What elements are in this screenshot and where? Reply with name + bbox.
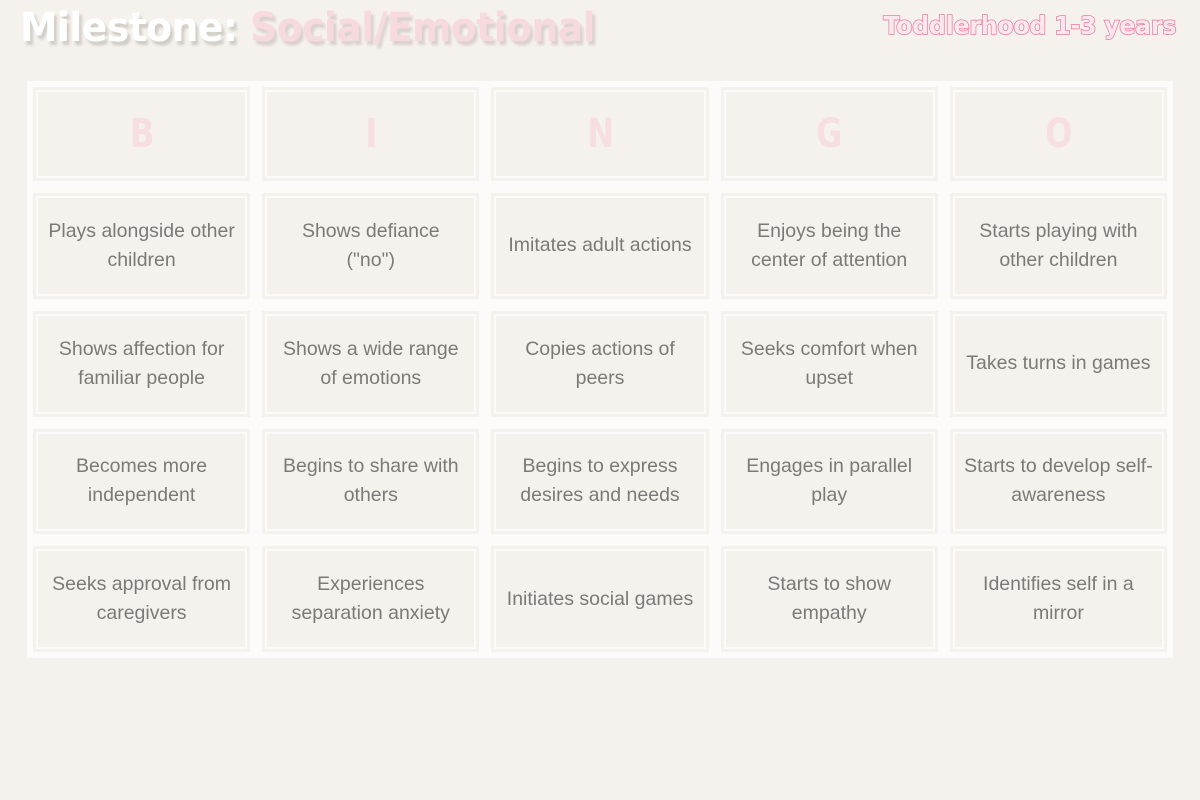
bingo-cell[interactable]: Experiences separation anxiety [256,540,485,658]
bingo-cell[interactable]: Seeks comfort when upset [715,305,944,423]
bingo-letter-o: O [1045,114,1071,154]
bingo-board: B I N G O Plays alongside other children… [27,81,1173,776]
bingo-cell-label: Imitates adult actions [508,231,691,260]
bingo-cell-label: Shows defiance ("no") [276,217,465,275]
bingo-cell[interactable]: Identifies self in a mirror [944,540,1173,658]
bingo-header-cell-n: N [485,81,714,187]
bingo-cell[interactable]: Seeks approval from caregivers [27,540,256,658]
bingo-cell-label: Starts playing with other children [964,217,1153,275]
bingo-cell[interactable]: Shows defiance ("no") [256,187,485,305]
bingo-letter-n: N [587,114,613,154]
bingo-cell-label: Engages in parallel play [735,452,924,510]
bingo-cell[interactable]: Shows affection for familiar people [27,305,256,423]
bingo-cell-label: Starts to develop self-awareness [964,452,1153,510]
bingo-cell-label: Becomes more independent [47,452,236,510]
page-title-main: Milestone: [20,5,237,51]
bingo-cell[interactable]: Takes turns in games [944,305,1173,423]
bingo-cell-label: Takes turns in games [966,349,1150,378]
bingo-header-cell-g: G [715,81,944,187]
bingo-cell[interactable]: Starts to show empathy [715,540,944,658]
bingo-cell-label: Enjoys being the center of attention [735,217,924,275]
bingo-header-cell-i: I [256,81,485,187]
bingo-letter-i: I [365,114,376,154]
bingo-page: Milestone: Social/Emotional Toddlerhood … [0,0,1200,800]
bingo-cell[interactable]: Starts playing with other children [944,187,1173,305]
page-header: Milestone: Social/Emotional Toddlerhood … [0,0,1200,64]
bingo-cell-label: Experiences separation anxiety [276,570,465,628]
bingo-cell[interactable]: Enjoys being the center of attention [715,187,944,305]
bingo-cell[interactable]: Copies actions of peers [485,305,714,423]
bingo-cell[interactable]: Imitates adult actions [485,187,714,305]
bingo-cell[interactable]: Initiates social games [485,540,714,658]
bingo-cell[interactable]: Begins to share with others [256,423,485,541]
bingo-header-cell-o: O [944,81,1173,187]
bingo-cell-label: Seeks comfort when upset [735,335,924,393]
page-title: Milestone: Social/Emotional [20,4,595,52]
bingo-header-cell-b: B [27,81,256,187]
bingo-cell-label: Seeks approval from caregivers [47,570,236,628]
bingo-cell[interactable]: Engages in parallel play [715,423,944,541]
bingo-letter-g: G [816,114,841,154]
bingo-cell[interactable]: Becomes more independent [27,423,256,541]
bingo-cell-label: Shows a wide range of emotions [276,335,465,393]
bingo-cell-label: Starts to show empathy [735,570,924,628]
age-range-label: Toddlerhood 1-3 years [883,11,1176,41]
bingo-cell-label: Shows affection for familiar people [47,335,236,393]
bingo-cell-label: Begins to share with others [276,452,465,510]
bingo-cell[interactable]: Begins to express desires and needs [485,423,714,541]
bingo-cell-label: Copies actions of peers [505,335,694,393]
page-title-accent: Social/Emotional [250,5,595,51]
bingo-cell-label: Begins to express desires and needs [505,452,694,510]
bingo-cell-label: Identifies self in a mirror [964,570,1153,628]
bingo-cell[interactable]: Starts to develop self-awareness [944,423,1173,541]
bingo-cell[interactable]: Plays alongside other children [27,187,256,305]
bingo-cell[interactable]: Shows a wide range of emotions [256,305,485,423]
bingo-cell-label: Plays alongside other children [47,217,236,275]
bingo-cell-label: Initiates social games [507,585,693,614]
bingo-letter-b: B [130,114,154,154]
